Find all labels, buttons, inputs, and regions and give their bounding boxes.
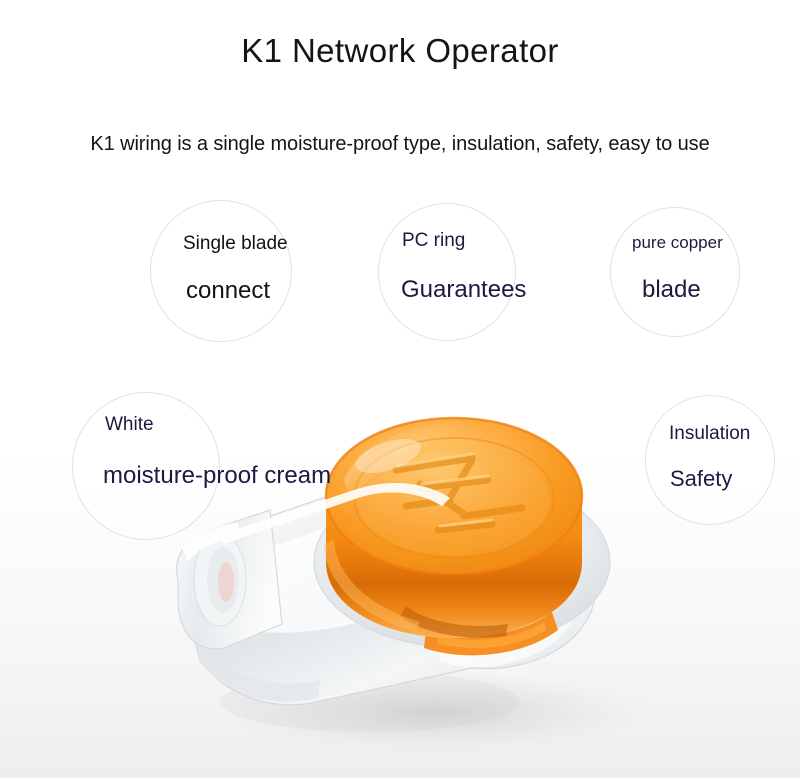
feature-line-1: Single blade (183, 233, 288, 255)
feature-line-2: connect (186, 277, 288, 305)
feature-text: Insulation Safety (669, 423, 750, 492)
feature-line-2: blade (642, 276, 723, 304)
product-image (120, 330, 680, 760)
orange-cap (324, 418, 582, 638)
wire-entry-tube (177, 510, 282, 649)
feature-line-1: pure copper (632, 233, 723, 253)
feature-text: PC ring Guarantees (402, 230, 526, 304)
wire-core (218, 562, 234, 602)
feature-line-1: PC ring (402, 230, 526, 252)
page-subtitle: K1 wiring is a single moisture-proof typ… (0, 133, 800, 156)
feature-line-1: White (105, 414, 331, 436)
feature-line-1: Insulation (669, 423, 750, 445)
page-title: K1 Network Operator (0, 32, 800, 70)
feature-text: Single blade connect (183, 233, 288, 305)
feature-line-2: Guarantees (401, 276, 526, 304)
feature-line-2: moisture-proof cream (103, 462, 331, 490)
feature-line-2: Safety (670, 466, 750, 492)
feature-text: pure copper blade (632, 233, 723, 304)
feature-text: White moisture-proof cream (105, 414, 331, 490)
infographic-page: K1 Network Operator K1 wiring is a singl… (0, 0, 800, 778)
